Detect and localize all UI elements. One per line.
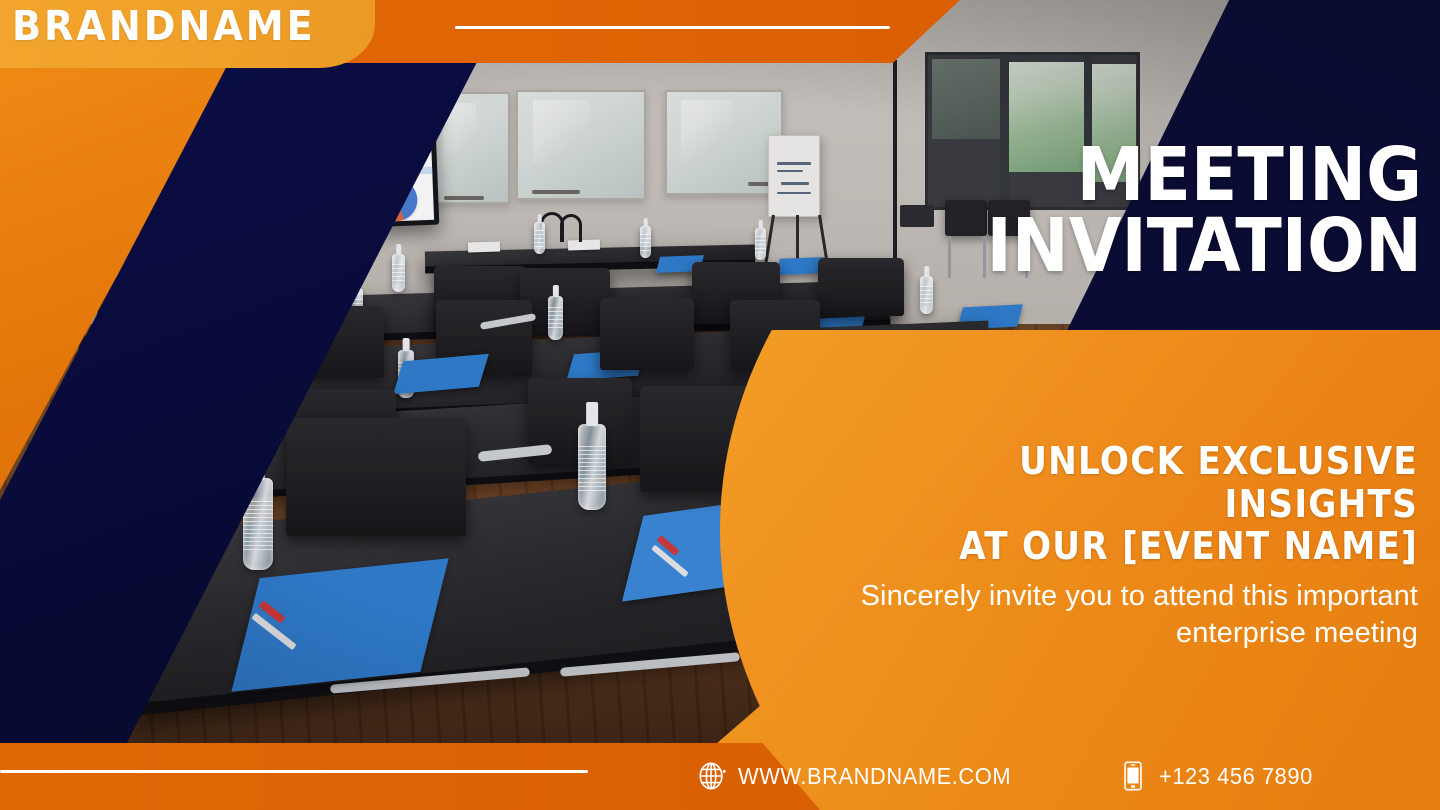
smartphone-icon: [1118, 760, 1148, 792]
subtitle-block: UNLOCK EXCLUSIVE INSIGHTS AT OUR [EVENT …: [838, 440, 1418, 568]
top-divider-line: [455, 26, 890, 29]
title-line-2: INVITATION: [907, 211, 1422, 282]
body-block: Sincerely invite you to attend this impo…: [788, 578, 1418, 652]
body-line-2: enterprise meeting: [788, 615, 1418, 652]
invitation-poster: BRANDNAME MEETING INVITATION UNLOCK EXCL…: [0, 0, 1440, 810]
brand-name-label: BRANDNAME: [12, 2, 316, 50]
globe-icon: [697, 760, 727, 792]
title-line-1: MEETING: [907, 140, 1422, 211]
phone-label: +123 456 7890: [1159, 763, 1313, 790]
phone-contact[interactable]: +123 456 7890: [1118, 760, 1321, 792]
subtitle-line-2: AT OUR [EVENT NAME]: [896, 525, 1418, 568]
brand-banner: BRANDNAME: [0, 0, 375, 68]
title-block: MEETING INVITATION: [862, 140, 1422, 282]
bottom-divider-line: [0, 770, 588, 773]
website-contact[interactable]: WWW.BRANDNAME.COM: [697, 760, 1025, 792]
subtitle-line-1: UNLOCK EXCLUSIVE INSIGHTS: [896, 440, 1418, 525]
body-line-1: Sincerely invite you to attend this impo…: [788, 578, 1418, 615]
website-label: WWW.BRANDNAME.COM: [738, 763, 1011, 790]
